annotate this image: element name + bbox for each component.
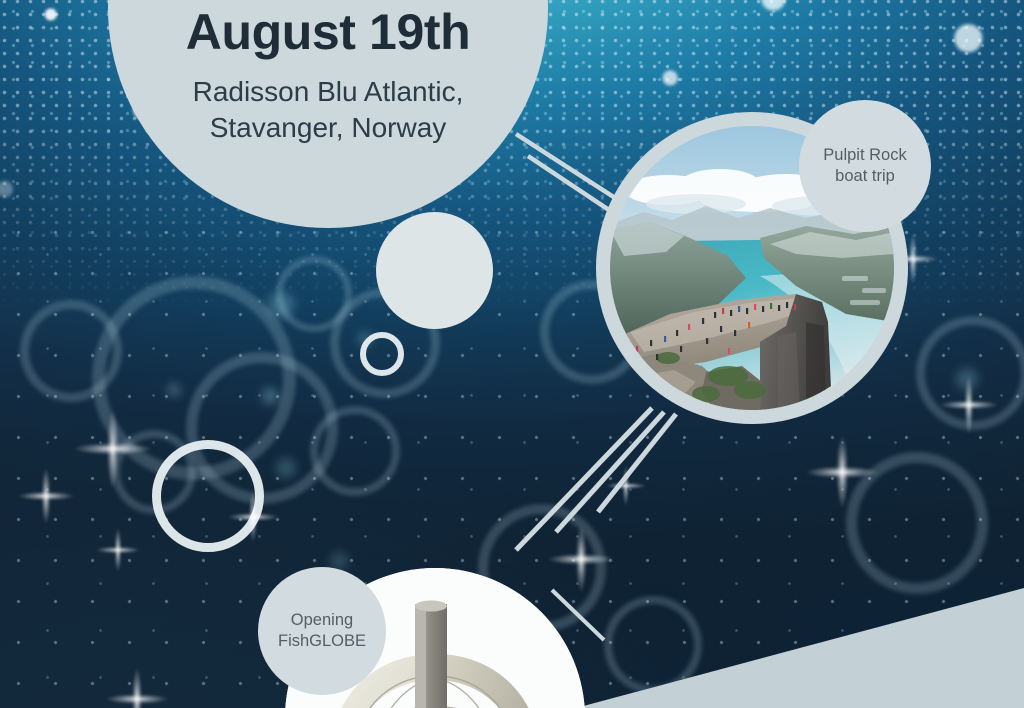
pulpit-rock-label-line1: Pulpit Rock — [823, 146, 906, 164]
pulpit-rock-label: Pulpit Rock boat trip — [799, 100, 931, 232]
venue-line-1: Radisson Blu Atlantic, — [116, 74, 540, 110]
title-block: August 19th Radisson Blu Atlantic, Stava… — [116, 4, 540, 146]
fishglobe-label-line2: FishGLOBE — [278, 632, 366, 650]
poster-canvas: August 19th Radisson Blu Atlantic, Stava… — [0, 0, 1024, 708]
fishglobe-label: Opening FishGLOBE — [258, 567, 386, 695]
page-title: August 19th — [116, 4, 540, 60]
pulpit-rock-label-line2: boat trip — [835, 167, 895, 185]
outline-ring-large — [152, 440, 264, 552]
outline-ring-small — [360, 332, 404, 376]
venue-line-2: Stavanger, Norway — [116, 110, 540, 146]
fishglobe-label-line1: Opening — [291, 611, 353, 629]
accent-circle — [376, 212, 493, 329]
